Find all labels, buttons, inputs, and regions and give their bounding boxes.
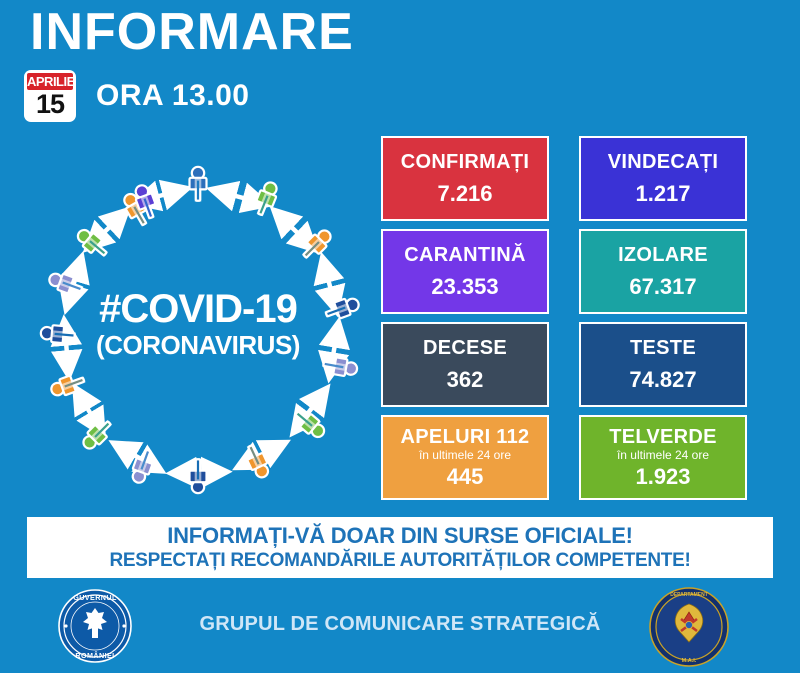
stat-label: APELURI 112 xyxy=(401,425,530,449)
stat-value: 445 xyxy=(447,463,484,491)
stat-label: TESTE xyxy=(630,336,696,360)
stat-value: 362 xyxy=(447,366,484,394)
stat-value: 23.353 xyxy=(431,273,498,301)
social-distancing-circle-icon: #COVID-19 (CORONAVIRUS) xyxy=(18,160,378,500)
svg-text:DEPARTAMENT: DEPARTAMENT xyxy=(670,592,708,598)
stat-note: în ultimele 24 ore xyxy=(419,448,511,462)
official-sources-banner: INFORMAȚI-VĂ DOAR DIN SURSE OFICIALE! RE… xyxy=(27,517,773,578)
stats-grid: CONFIRMAȚI 7.216 VINDECAȚI 1.217 CARANTI… xyxy=(381,136,747,500)
stat-value: 1.217 xyxy=(635,180,690,208)
stat-card-confirmati: CONFIRMAȚI 7.216 xyxy=(381,136,549,221)
stat-value: 74.827 xyxy=(629,366,696,394)
person-figure xyxy=(322,355,358,378)
stat-card-izolare: IZOLARE 67.317 xyxy=(579,229,747,314)
person-figure xyxy=(190,167,207,201)
stat-label: CONFIRMAȚI xyxy=(401,150,530,174)
calendar-day-label: 15 xyxy=(27,90,73,119)
hour-label: ORA 13.00 xyxy=(96,79,249,113)
stat-card-vindecati: VINDECAȚI 1.217 xyxy=(579,136,747,221)
person-figure xyxy=(323,295,361,323)
footer: GUVERNUL ROMÂNIEI GRUPUL DE COMUNICARE S… xyxy=(0,583,800,671)
banner-line-2: RESPECTAȚI RECOMANDĂRILE AUTORITĂȚILOR C… xyxy=(109,549,690,572)
stat-label: DECESE xyxy=(423,336,507,360)
stat-label: IZOLARE xyxy=(618,243,708,267)
svg-text:M.A.I.: M.A.I. xyxy=(682,658,697,664)
stat-note: în ultimele 24 ore xyxy=(617,448,709,462)
stat-card-apeluri-112: APELURI 112 în ultimele 24 ore 445 xyxy=(381,415,549,500)
svg-text:ROMÂNIEI: ROMÂNIEI xyxy=(75,651,114,660)
stat-label: CARANTINĂ xyxy=(404,243,526,267)
informare-poster: INFORMARE APRILIE 15 ORA 13.00 xyxy=(0,0,800,671)
stat-card-carantina: CARANTINĂ 23.353 xyxy=(381,229,549,314)
stat-value: 67.317 xyxy=(629,273,696,301)
departamentul-situatii-urgenta-seal-icon: DEPARTAMENT M.A.I. xyxy=(648,586,730,668)
person-figure xyxy=(49,372,87,400)
stat-value: 7.216 xyxy=(437,180,492,208)
social-distancing-svg xyxy=(18,160,378,500)
person-figure xyxy=(252,180,280,218)
stat-card-teste: TESTE 74.827 xyxy=(579,322,747,407)
stat-label: TELVERDE xyxy=(609,425,717,449)
stat-card-decese: DECESE 362 xyxy=(381,322,549,407)
calendar-icon: APRILIE 15 xyxy=(24,70,76,122)
calendar-month-label: APRILIE xyxy=(27,73,73,90)
banner-line-1: INFORMAȚI-VĂ DOAR DIN SURSE OFICIALE! xyxy=(167,523,633,549)
stat-label: VINDECAȚI xyxy=(608,150,718,174)
date-row: APRILIE 15 ORA 13.00 xyxy=(24,70,249,122)
person-figure xyxy=(299,226,335,262)
person-figure xyxy=(40,324,75,344)
svg-text:GUVERNUL: GUVERNUL xyxy=(73,593,117,602)
stat-value: 1.923 xyxy=(635,463,690,491)
stat-card-telverde: TELVERDE în ultimele 24 ore 1.923 xyxy=(579,415,747,500)
page-title: INFORMARE xyxy=(30,4,354,61)
person-figure xyxy=(190,459,207,493)
person-figure xyxy=(242,442,272,480)
